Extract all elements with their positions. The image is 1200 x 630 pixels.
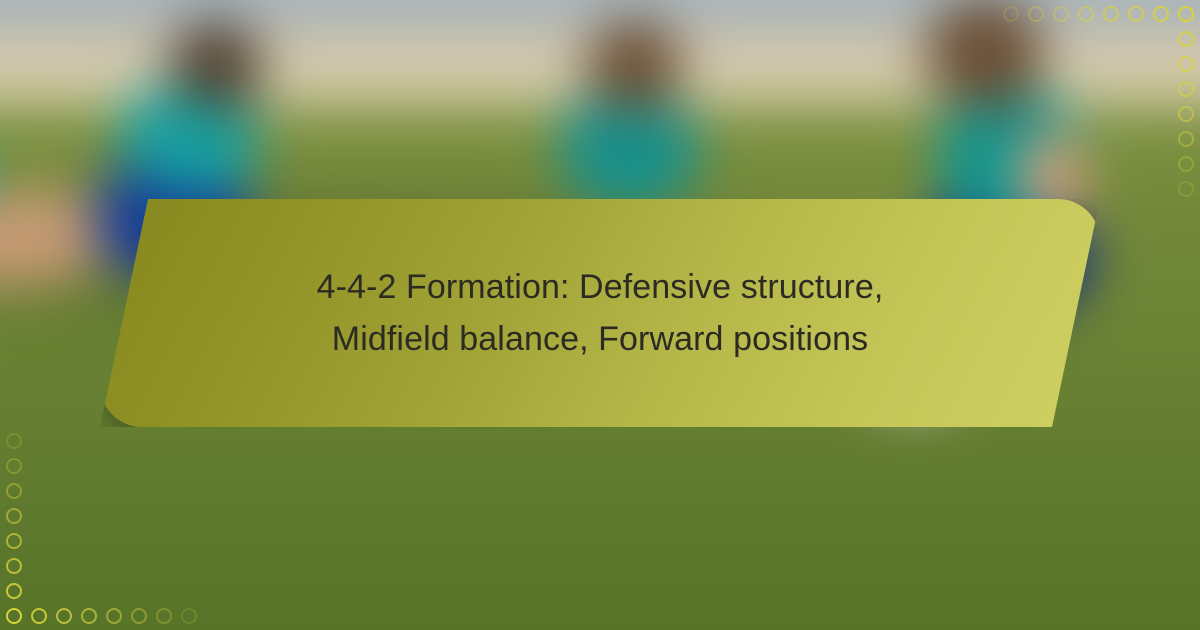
- headline-text: 4-4-2 Formation: Defensive structure, Mi…: [170, 261, 1030, 365]
- social-card-canvas: 4-4-2 Formation: Defensive structure, Mi…: [0, 0, 1200, 630]
- headline-card: 4-4-2 Formation: Defensive structure, Mi…: [100, 199, 1100, 427]
- headline-card-content: 4-4-2 Formation: Defensive structure, Mi…: [170, 261, 1030, 365]
- player-mid-head: [586, 20, 682, 112]
- player-right-head: [925, 0, 1043, 110]
